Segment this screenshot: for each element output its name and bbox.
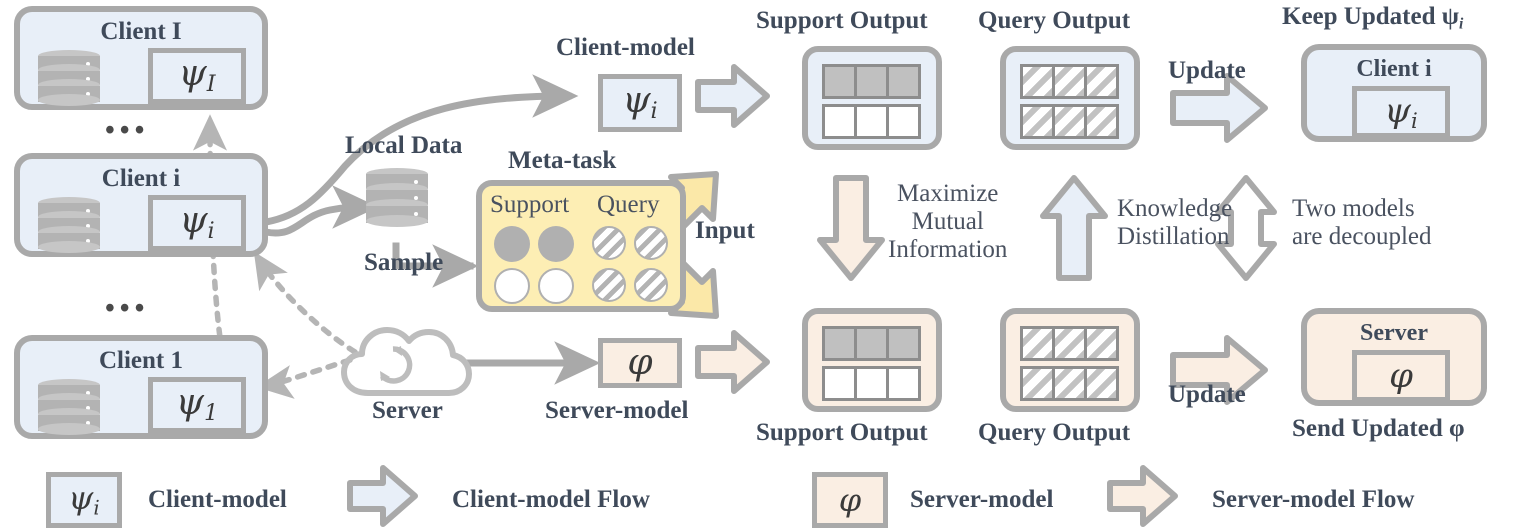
two-models-decoupled-label: Two models are decoupled — [1292, 195, 1432, 251]
server-model-label: Server-model — [545, 398, 688, 423]
client-top-model-box[interactable]: ψI — [148, 48, 246, 104]
query-output-top-row-2 — [1020, 104, 1119, 139]
meta-query-label: Query — [597, 191, 659, 219]
query-sample-dot — [634, 268, 668, 302]
result-client-title: Client i — [1307, 56, 1481, 83]
update-top-label: Update — [1168, 58, 1246, 83]
server-model-box[interactable]: φ — [598, 338, 682, 388]
support-output-top-row-gray — [822, 64, 921, 99]
query-output-bottom-row-2 — [1020, 366, 1119, 401]
client-middle-model-box[interactable]: ψi — [148, 195, 246, 251]
result-client-card[interactable]: Client i ψi — [1301, 44, 1487, 142]
local-data-db-icon — [366, 168, 428, 228]
support-sample-dot — [494, 268, 530, 304]
query-output-top-card[interactable] — [1000, 46, 1140, 150]
client-top-psi: ψ — [178, 53, 206, 94]
database-icon — [38, 50, 100, 106]
query-output-top-row-1 — [1020, 64, 1119, 99]
support-sample-dot — [538, 268, 574, 304]
client-bottom-psi: ψ — [176, 382, 204, 423]
support-output-top-card[interactable] — [802, 46, 942, 150]
query-output-top-label: Query Output — [978, 8, 1130, 33]
client-bottom-model-box[interactable]: ψ1 — [148, 377, 246, 433]
result-server-title: Server — [1307, 320, 1481, 347]
input-label: Input — [695, 218, 755, 243]
client-top-psi-sub: I — [207, 71, 216, 97]
flow-arrow-client-support — [698, 67, 767, 125]
client-model-box[interactable]: ψi — [598, 74, 682, 132]
keep-updated-sub: i — [1459, 15, 1463, 32]
query-sample-dot — [592, 226, 626, 260]
result-client-psi: ψ — [1384, 91, 1411, 131]
flow-arrow-server-support — [698, 333, 767, 391]
keep-updated-text: Keep Updated ψ — [1282, 3, 1459, 30]
client-model-psi: ψ — [622, 80, 650, 121]
meta-support-label: Support — [490, 191, 569, 219]
client-model-label: Client-model — [556, 35, 695, 60]
diagram-canvas: Client I ψI ••• Client i ψi •• — [0, 0, 1529, 530]
legend-arrow-server — [1110, 468, 1175, 524]
local-data-label: Local Data — [345, 133, 462, 158]
client-card-middle[interactable]: Client i ψi — [14, 153, 268, 257]
support-output-bottom-row-gray — [822, 326, 921, 361]
query-output-bottom-row-1 — [1020, 326, 1119, 361]
client-card-top[interactable]: Client I ψI — [14, 6, 268, 110]
legend-server-model-label: Server-model — [910, 487, 1053, 512]
legend-phi-glyph: φ — [839, 484, 861, 516]
client-card-middle-title: Client i — [20, 165, 262, 193]
knowledge-distillation-arrow — [1043, 178, 1105, 278]
query-output-bottom-label: Query Output — [978, 420, 1130, 445]
client-middle-psi: ψ — [179, 200, 207, 241]
result-server-phi: φ — [1389, 359, 1413, 393]
legend-server-model-icon: φ — [812, 472, 888, 528]
keep-updated-label: Keep Updated ψi — [1282, 4, 1463, 32]
query-sample-dot — [592, 268, 626, 302]
support-sample-dot — [494, 226, 530, 262]
legend-client-flow-label: Client-model Flow — [452, 487, 650, 512]
update-arrow-top — [1173, 76, 1265, 140]
support-output-bottom-card[interactable] — [802, 308, 942, 412]
client-card-bottom[interactable]: Client 1 ψ1 — [14, 335, 268, 439]
support-output-bottom-row-white — [822, 366, 921, 401]
support-sample-dot — [538, 226, 574, 262]
client-bottom-psi-sub: 1 — [204, 400, 218, 426]
update-bottom-label: Update — [1168, 382, 1246, 407]
client-card-bottom-title: Client 1 — [20, 347, 262, 375]
legend-client-model-icon: ψi — [46, 472, 122, 528]
legend-psi-sub: i — [93, 496, 99, 519]
result-server-card[interactable]: Server φ — [1301, 308, 1487, 406]
server-label: Server — [372, 398, 443, 423]
clients-ellipsis-top: ••• — [105, 115, 149, 147]
database-icon — [38, 197, 100, 253]
query-output-bottom-card[interactable] — [1000, 308, 1140, 412]
server-model-phi: φ — [627, 345, 652, 381]
result-server-model-box[interactable]: φ — [1352, 350, 1450, 402]
meta-task-label: Meta-task — [508, 148, 616, 173]
legend-client-model-label: Client-model — [148, 487, 287, 512]
client-middle-psi-sub: i — [208, 218, 215, 244]
client-model-psi-sub: i — [651, 98, 658, 124]
result-client-psi-sub: i — [1411, 107, 1418, 132]
cloud-server-icon — [344, 330, 469, 393]
database-icon — [38, 379, 100, 435]
legend-arrow-client — [350, 468, 415, 524]
support-output-top-label: Support Output — [756, 8, 928, 33]
legend-psi-glyph: ψ — [68, 479, 93, 517]
result-client-model-box[interactable]: ψi — [1352, 86, 1450, 138]
client-card-top-title: Client I — [20, 18, 262, 46]
send-updated-label: Send Updated φ — [1292, 416, 1465, 441]
maximize-mutual-information-label: Maximize Mutual Information — [888, 180, 1007, 264]
clients-ellipsis-bottom: ••• — [105, 293, 149, 325]
maximize-mutual-information-arrow — [820, 178, 882, 278]
meta-task-panel[interactable]: Support Query — [476, 180, 686, 312]
legend-server-flow-label: Server-model Flow — [1212, 487, 1414, 512]
knowledge-distillation-label: Knowledge Distillation — [1117, 195, 1232, 251]
query-sample-dot — [634, 226, 668, 260]
support-output-top-row-white — [822, 104, 921, 139]
sample-label: Sample — [364, 250, 443, 275]
support-output-bottom-label: Support Output — [756, 420, 928, 445]
